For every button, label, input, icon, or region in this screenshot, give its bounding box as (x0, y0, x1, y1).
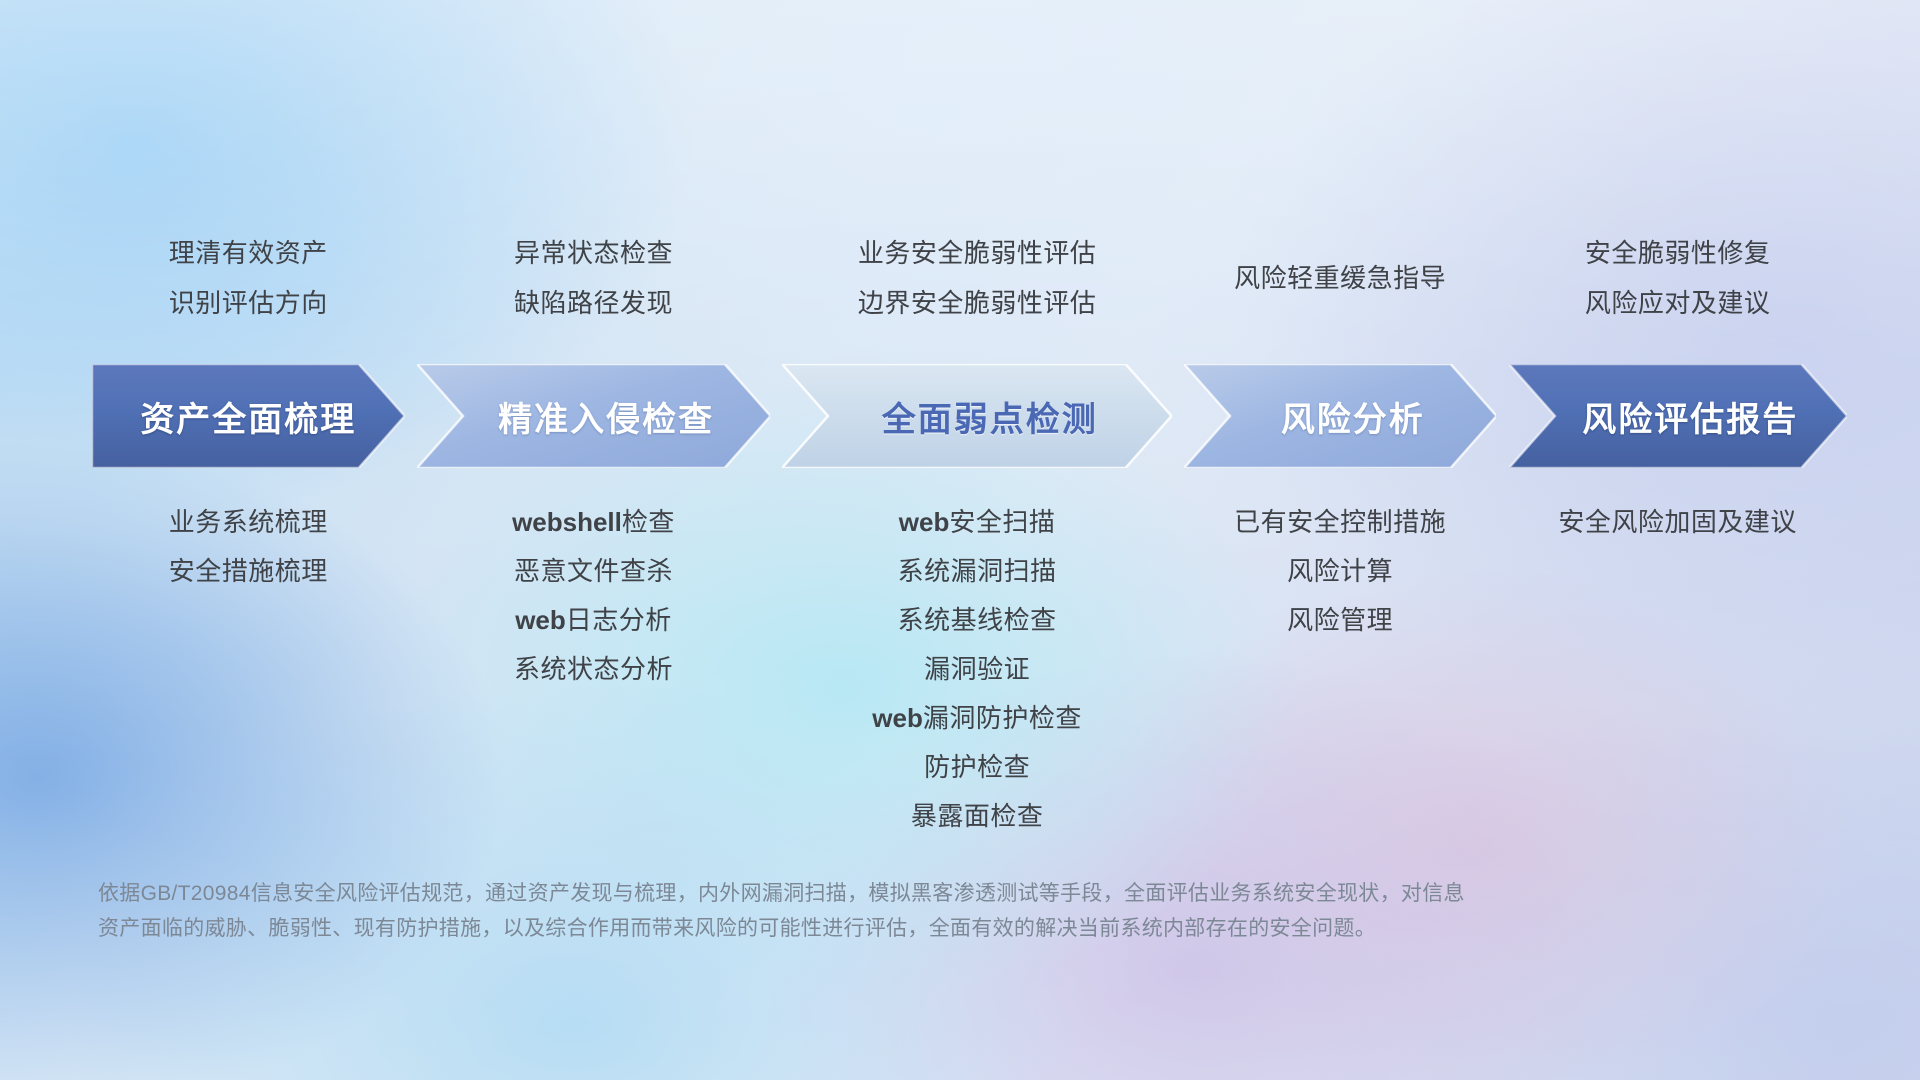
list-item-en: webshell (512, 507, 622, 537)
list-item-en: web (872, 703, 923, 733)
list-item-en: web (515, 605, 566, 635)
stage-chevron-asset-inventory[interactable]: 资产全面梳理 (92, 364, 405, 468)
list-item: 恶意文件查杀 (383, 547, 803, 596)
list-item-cn: 系统漏洞扫描 (898, 556, 1057, 586)
process-diagram: 理清有效资产识别评估方向异常状态检查缺陷路径发现业务安全脆弱性评估边界安全脆弱性… (0, 0, 1920, 1080)
list-item-cn: 日志分析 (566, 605, 672, 635)
list-item-cn: 恶意文件查杀 (514, 556, 673, 586)
list-item: web漏洞防护检查 (767, 694, 1187, 743)
caption-line: 异常状态检查 (383, 228, 803, 278)
footer-line: 资产面临的威胁、脆弱性、现有防护措施，以及综合作用而带来风险的可能性进行评估，全… (98, 911, 1718, 946)
list-item-cn: 暴露面检查 (911, 801, 1044, 831)
stage-chevron-label: 资产全面梳理 (140, 392, 356, 441)
list-item-cn: 漏洞防护检查 (923, 703, 1082, 733)
list-item: 暴露面检查 (767, 792, 1187, 841)
list-item: 漏洞验证 (767, 645, 1187, 694)
list-item-cn: 检查 (622, 507, 675, 537)
list-item: 安全风险加固及建议 (1468, 498, 1888, 547)
list-item-en: web (899, 507, 950, 537)
bottom-items-intrusion-check: webshell检查恶意文件查杀web日志分析系统状态分析 (383, 498, 803, 694)
stage-chevron-label: 精准入侵检查 (473, 392, 714, 441)
top-captions-risk-report: 安全脆弱性修复风险应对及建议 (1468, 228, 1888, 328)
list-item: web安全扫描 (767, 498, 1187, 547)
bottom-caption-row: 业务系统梳理安全措施梳理webshell检查恶意文件查杀web日志分析系统状态分… (0, 498, 1920, 858)
stage-chevron-band: 资产全面梳理 精准入 (0, 364, 1920, 468)
stage-chevron-risk-analysis[interactable]: 风险分析 (1184, 364, 1497, 468)
bottom-items-risk-report: 安全风险加固及建议 (1468, 498, 1888, 547)
list-item: 系统漏洞扫描 (767, 547, 1187, 596)
list-item: 防护检查 (767, 743, 1187, 792)
list-item: 风险计算 (1130, 547, 1550, 596)
caption-line: 缺陷路径发现 (383, 278, 803, 328)
list-item-cn: 安全扫描 (949, 507, 1055, 537)
top-caption-row: 理清有效资产识别评估方向异常状态检查缺陷路径发现业务安全脆弱性评估边界安全脆弱性… (0, 228, 1920, 348)
list-item-cn: 系统基线检查 (898, 605, 1057, 635)
footer-description: 依据GB/T20984信息安全风险评估规范，通过资产发现与梳理，内外网漏洞扫描，… (98, 876, 1718, 946)
list-item-cn: 系统状态分析 (514, 654, 673, 684)
stage-chevron-label: 风险评估报告 (1557, 392, 1798, 441)
list-item-cn: 已有安全控制措施 (1234, 507, 1446, 537)
caption-line: 安全脆弱性修复 (1468, 228, 1888, 278)
top-captions-intrusion-check: 异常状态检查缺陷路径发现 (383, 228, 803, 328)
list-item-cn: 风险管理 (1287, 605, 1393, 635)
list-item-cn: 风险计算 (1287, 556, 1393, 586)
footer-line: 依据GB/T20984信息安全风险评估规范，通过资产发现与梳理，内外网漏洞扫描，… (98, 876, 1718, 911)
list-item-cn: 防护检查 (924, 752, 1030, 782)
top-captions-weakness-detection: 业务安全脆弱性评估边界安全脆弱性评估 (767, 228, 1187, 328)
list-item-cn: 业务系统梳理 (169, 507, 328, 537)
caption-line: 业务安全脆弱性评估 (767, 228, 1187, 278)
list-item: webshell检查 (383, 498, 803, 547)
list-item: 系统状态分析 (383, 645, 803, 694)
list-item: 系统基线检查 (767, 596, 1187, 645)
stage-chevron-weakness-detection[interactable]: 全面弱点检测 (782, 364, 1172, 468)
list-item: 风险管理 (1130, 596, 1550, 645)
list-item-cn: 漏洞验证 (924, 654, 1030, 684)
caption-line: 风险应对及建议 (1468, 278, 1888, 328)
caption-line: 边界安全脆弱性评估 (767, 278, 1187, 328)
stage-chevron-intrusion-check[interactable]: 精准入侵检查 (417, 364, 771, 468)
list-item-cn: 安全措施梳理 (169, 556, 328, 586)
stage-chevron-label: 全面弱点检测 (856, 392, 1097, 441)
stage-chevron-label: 风险分析 (1256, 392, 1425, 441)
list-item-cn: 安全风险加固及建议 (1558, 507, 1797, 537)
list-item: web日志分析 (383, 596, 803, 645)
stage-chevron-risk-report[interactable]: 风险评估报告 (1509, 364, 1847, 468)
bottom-items-weakness-detection: web安全扫描系统漏洞扫描系统基线检查漏洞验证web漏洞防护检查防护检查暴露面检… (767, 498, 1187, 841)
